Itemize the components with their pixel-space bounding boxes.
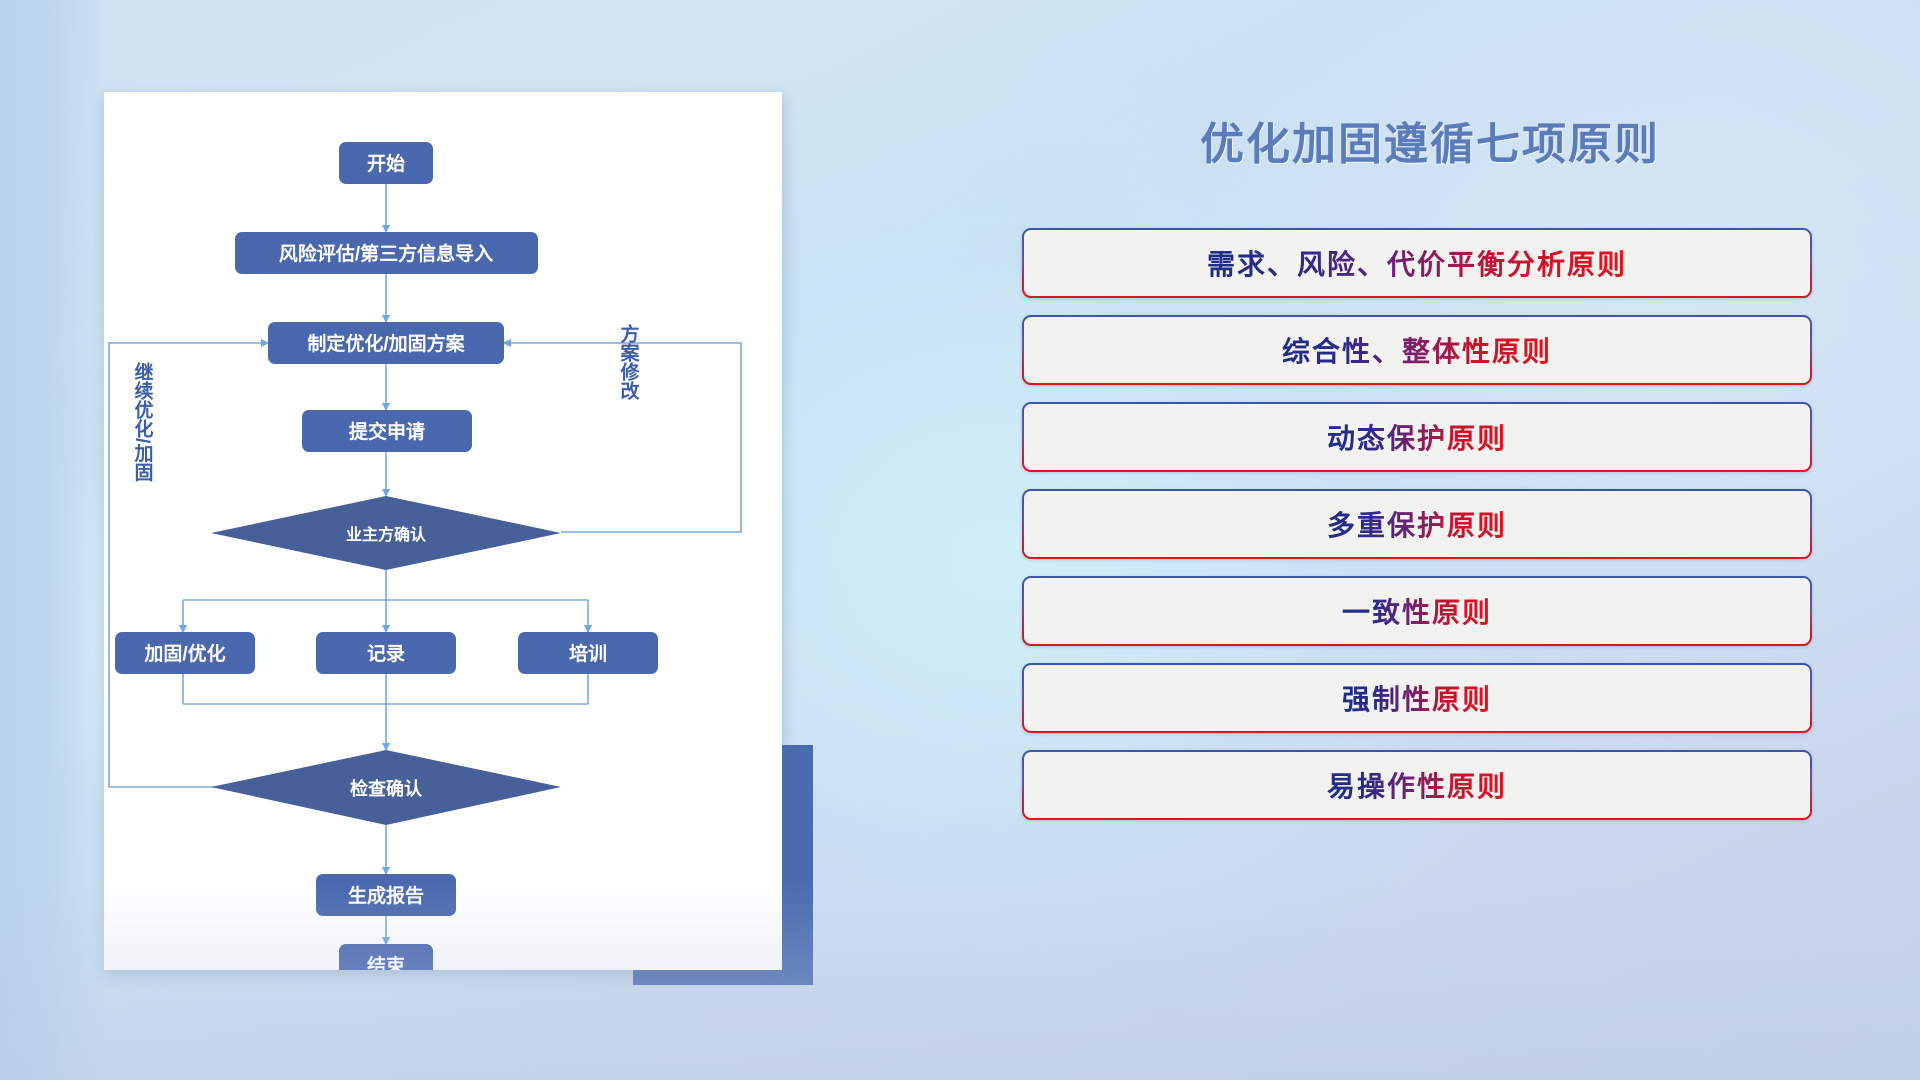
principle-card-2-label: 综合性、整体性原则 — [1282, 330, 1552, 370]
flow-node-start[interactable]: 开始 — [339, 142, 433, 184]
flow-node-risk-label: 风险评估/第三方信息导入 — [279, 242, 493, 265]
principle-card-6-label: 强制性原则 — [1342, 678, 1492, 718]
principle-card-7-label: 易操作性原则 — [1327, 765, 1507, 805]
principle-card-3[interactable]: 动态保护原则 — [1022, 402, 1812, 472]
slide-canvas: 开始 风险评估/第三方信息导入 制定优化/加固方案 提交申请 业主方确认 — [0, 0, 1920, 1080]
flow-node-report-label: 生成报告 — [348, 884, 424, 907]
principle-card-7-inner: 易操作性原则 — [1024, 752, 1810, 818]
flow-node-record-label: 记录 — [367, 643, 405, 665]
flowchart-panel: 开始 风险评估/第三方信息导入 制定优化/加固方案 提交申请 业主方确认 — [0, 0, 820, 1080]
flow-node-end[interactable]: 结束 — [339, 944, 433, 970]
principle-card-7[interactable]: 易操作性原则 — [1022, 750, 1812, 820]
flow-node-reinforce-label: 加固/优化 — [143, 642, 225, 665]
principle-card-4-inner: 多重保护原则 — [1024, 491, 1810, 557]
flow-node-check[interactable]: 检查确认 — [211, 750, 561, 825]
principle-card-5-label: 一致性原则 — [1342, 591, 1492, 631]
principle-card-1[interactable]: 需求、风险、代价平衡分析原则 — [1022, 228, 1812, 298]
principle-card-1-inner: 需求、风险、代价平衡分析原则 — [1024, 230, 1810, 296]
flow-node-owner-confirm[interactable]: 业主方确认 — [211, 496, 561, 570]
page-title: 优化加固遵循七项原则 — [1020, 108, 1840, 172]
flowchart-diagram: 开始 风险评估/第三方信息导入 制定优化/加固方案 提交申请 业主方确认 — [104, 92, 782, 970]
edge-label-plan-revise: 方案修改 — [618, 323, 641, 401]
flow-node-risk[interactable]: 风险评估/第三方信息导入 — [235, 232, 538, 274]
principles-panel: 优化加固遵循七项原则 需求、风险、代价平衡分析原则 综合性、整体性原则 动态保护… — [1020, 0, 1920, 1080]
flow-node-record[interactable]: 记录 — [316, 632, 456, 674]
principle-card-2[interactable]: 综合性、整体性原则 — [1022, 315, 1812, 385]
flow-node-owner-confirm-label: 业主方确认 — [346, 525, 427, 544]
flow-node-report[interactable]: 生成报告 — [316, 874, 456, 916]
flow-node-submit-label: 提交申请 — [349, 420, 425, 443]
flow-node-check-label: 检查确认 — [350, 778, 423, 799]
principle-card-4-label: 多重保护原则 — [1327, 504, 1507, 544]
flow-node-train[interactable]: 培训 — [518, 632, 658, 674]
flow-node-reinforce[interactable]: 加固/优化 — [115, 632, 255, 674]
flow-node-start-label: 开始 — [367, 152, 405, 175]
flow-node-plan[interactable]: 制定优化/加固方案 — [268, 322, 504, 364]
edge-label-continue-optimize: 继续优化/加固 — [132, 361, 155, 482]
principle-card-4[interactable]: 多重保护原则 — [1022, 489, 1812, 559]
principle-list: 需求、风险、代价平衡分析原则 综合性、整体性原则 动态保护原则 多重保护原则 — [1022, 228, 1812, 837]
principle-card-5-inner: 一致性原则 — [1024, 578, 1810, 644]
principle-card-2-inner: 综合性、整体性原则 — [1024, 317, 1810, 383]
principle-card-3-label: 动态保护原则 — [1327, 417, 1507, 457]
principle-card-3-inner: 动态保护原则 — [1024, 404, 1810, 470]
flow-node-end-label: 结束 — [367, 954, 406, 970]
principle-card-1-label: 需求、风险、代价平衡分析原则 — [1207, 243, 1627, 283]
principle-card-5[interactable]: 一致性原则 — [1022, 576, 1812, 646]
principle-card-6-inner: 强制性原则 — [1024, 665, 1810, 731]
flow-node-submit[interactable]: 提交申请 — [302, 410, 472, 452]
flow-node-plan-label: 制定优化/加固方案 — [307, 332, 465, 355]
principle-card-6[interactable]: 强制性原则 — [1022, 663, 1812, 733]
connector-group — [109, 184, 741, 944]
flow-node-train-label: 培训 — [569, 642, 607, 665]
